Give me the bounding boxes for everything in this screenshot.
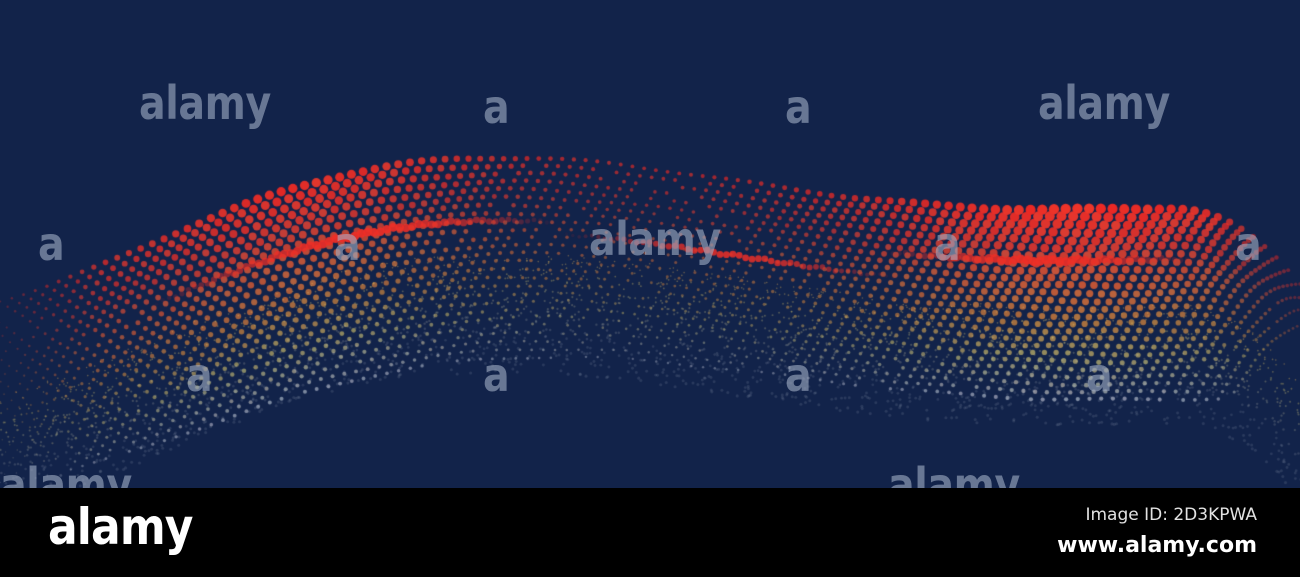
watermark-letter-11: a xyxy=(785,352,811,398)
watermark-letter-5: a xyxy=(334,221,360,267)
screenshot-root: alamyaaalamyaaalamyaaaaaaalamyalamy alam… xyxy=(0,0,1300,577)
watermark-letter-4: a xyxy=(38,221,64,267)
watermark-letter-9: a xyxy=(186,352,212,398)
watermark-letter-12: a xyxy=(1086,352,1112,398)
watermark-letter-8: a xyxy=(1235,221,1261,267)
image-id-label: Image ID: 2D3KPWA xyxy=(1085,506,1257,525)
watermark-letter-2: a xyxy=(785,84,811,130)
watermark-word-14: alamy xyxy=(888,462,1020,488)
watermark-word-0: alamy xyxy=(139,80,271,126)
alamy-url[interactable]: www.alamy.com xyxy=(1057,534,1257,558)
alamy-footer-bar: alamy Image ID: 2D3KPWA www.alamy.com xyxy=(0,488,1300,577)
watermark-letter-7: a xyxy=(934,221,960,267)
watermark-letter-1: a xyxy=(483,84,509,130)
watermark-word-3: alamy xyxy=(1038,80,1170,126)
watermark-letter-10: a xyxy=(483,352,509,398)
stock-photo-artboard: alamyaaalamyaaalamyaaaaaaalamyalamy xyxy=(0,0,1300,488)
watermark-word-6: alamy xyxy=(589,216,721,262)
watermark-word-13: alamy xyxy=(0,462,132,488)
alamy-logo: alamy xyxy=(48,502,193,552)
